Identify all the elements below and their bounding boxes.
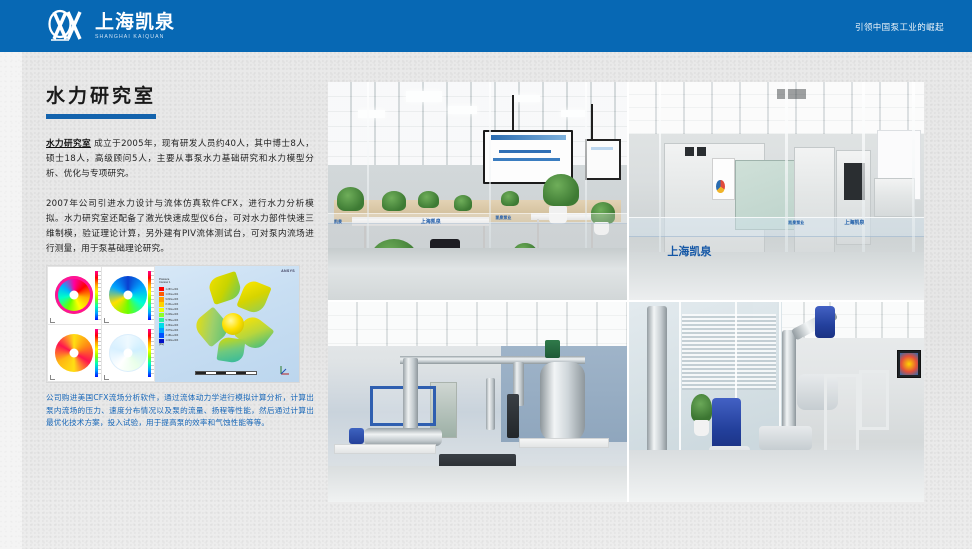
legend-subtitle: Contour 1 — [159, 281, 185, 284]
legend-value: 4.364e+003 — [166, 324, 179, 327]
paragraph-software-text: 2007年公司引进水力设计与流体仿真软件CFX，进行水力分析模拟。水力研究室还配… — [46, 199, 314, 255]
legend-value: 2.181e+003 — [166, 334, 179, 337]
glass-brand-text: 凯泉 — [334, 219, 342, 225]
logo-english-name: SHANGHAI KAIQUAN — [95, 33, 175, 41]
photo-rapid-prototyping-equipment[interactable]: 上海凯泉 凯泉泵业 上海凯泉 — [629, 82, 924, 300]
legend-value: 5.756e+003 — [166, 319, 179, 322]
paragraph-intro: 水力研究室 成立于2005年，现有研发人员约40人，其中博士8人，硕士18人，高… — [46, 137, 314, 183]
glass-brand-text: 上海凯泉 — [421, 218, 441, 225]
impeller-pressure-contour-c — [48, 325, 101, 382]
pump-motor-upper — [815, 306, 836, 338]
paragraph-software: 2007年公司引进水力设计与流体仿真软件CFX，进行水力分析模拟。水力研究室还配… — [46, 197, 314, 258]
impeller-3d-pressure-view: ANSYS Pressure Contour 1 1.287e+004 1.03… — [155, 266, 299, 382]
cfd-simulation-figure: ANSYS Pressure Contour 1 1.287e+004 1.03… — [46, 265, 300, 383]
wall-monitor — [897, 350, 921, 378]
green-valve — [545, 340, 560, 358]
page-title: 水力研究室 — [46, 84, 314, 108]
legend-value: 1.034e+004 — [166, 293, 179, 296]
pump-motor-lower — [712, 398, 742, 450]
glass-brand-text: 凯泉泵业 — [495, 215, 511, 221]
legend-swatches: 1.287e+004 1.034e+004 9.823e+003 8.431e+… — [159, 286, 185, 343]
cfd-caption: 公司购进美国CFX流场分析软件，通过流体动力学进行模拟计算分析，计算出泵内流场的… — [46, 392, 314, 430]
legend-value: 9.823e+003 — [166, 298, 179, 301]
glass-brand-text: 凯泉泵业 — [788, 220, 804, 226]
legend-value: 1.287e+004 — [166, 288, 179, 291]
impeller-velocity-contour-b — [102, 267, 155, 324]
logo-chinese-name: 上海凯泉 — [95, 12, 175, 32]
glass-brand-text: 上海凯泉 — [844, 219, 864, 226]
scale-bar — [195, 371, 257, 375]
legend-unit: [Pa] — [159, 343, 185, 346]
slide-page: 上海凯泉 SHANGHAI KAIQUAN 引领中国泵工业的崛起 水力研究室 水… — [0, 0, 972, 549]
legend-value: 3.673e+003 — [166, 329, 179, 332]
title-underline-rule — [46, 114, 156, 119]
legend-value: 8.431e+003 — [166, 303, 179, 306]
pressure-tank — [540, 362, 585, 442]
glass-brand-text: 上海凯泉 — [667, 243, 711, 259]
brand-logo[interactable]: 上海凯泉 SHANGHAI KAIQUAN — [46, 9, 175, 43]
pressure-legend: Pressure Contour 1 1.287e+004 1.034e+004… — [159, 278, 185, 347]
secondary-display — [585, 139, 621, 180]
page-header: 上海凯泉 SHANGHAI KAIQUAN 引领中国泵工业的崛起 — [0, 0, 972, 52]
impeller-pressure-contour-a — [48, 267, 101, 324]
photo-office-lab-interior[interactable]: 上海凯泉 凯泉泵业 凯泉 — [328, 82, 627, 300]
left-text-column: 水力研究室 水力研究室 成立于2005年，现有研发人员约40人，其中博士8人，硕… — [46, 84, 314, 257]
axis-triad-icon — [279, 363, 291, 375]
paragraph-lead-label: 水力研究室 — [46, 139, 91, 149]
header-slogan: 引领中国泵工业的崛起 — [855, 21, 944, 33]
cfd-contour-panels — [47, 266, 155, 382]
legend-value: 6.248e+003 — [166, 313, 179, 316]
photo-pump-test-installation[interactable] — [629, 302, 924, 502]
legend-value: 1.020e+003 — [166, 339, 179, 342]
machine-info-panel — [712, 158, 736, 199]
ansys-watermark: ANSYS — [281, 269, 295, 273]
kaiquan-logo-icon — [46, 9, 88, 43]
photo-piv-flow-test-bench[interactable] — [328, 302, 627, 502]
pump-motor — [349, 428, 364, 444]
impeller-streamline-contour-d — [102, 325, 155, 382]
photo-grid: 上海凯泉 凯泉泵业 凯泉 上海凯泉 — [328, 82, 924, 502]
legend-value: 7.740e+003 — [166, 308, 179, 311]
